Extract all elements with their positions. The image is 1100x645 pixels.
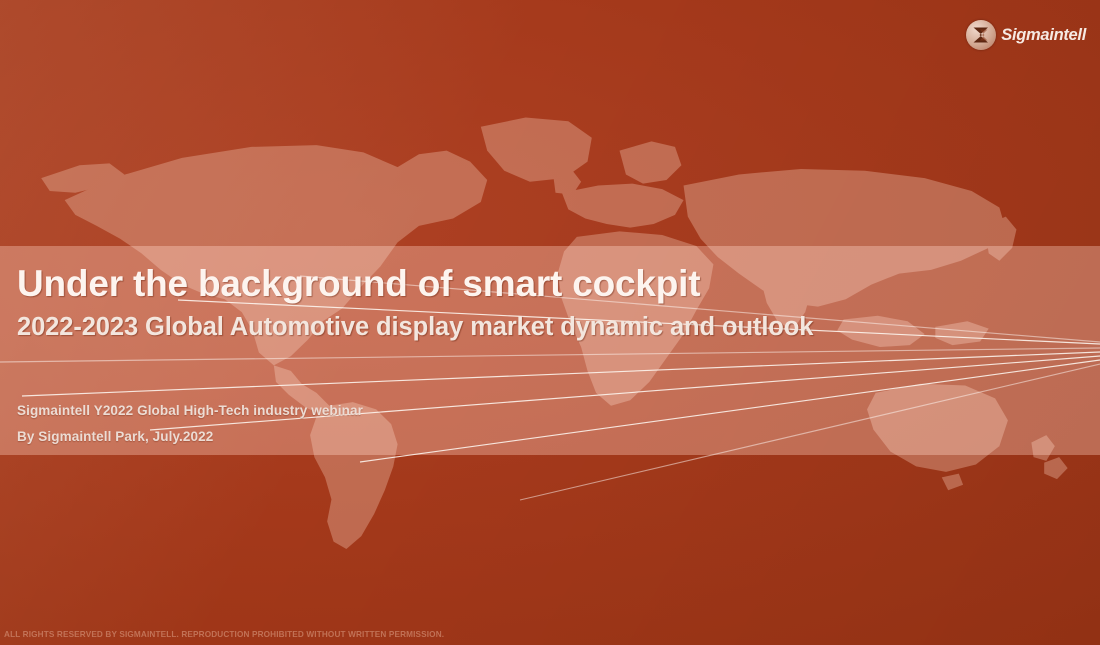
brand-logo: Sigmaintell <box>966 20 1086 50</box>
title-group: Under the background of smart cockpit 20… <box>17 262 1037 342</box>
presentation-slide: Under the background of smart cockpit 20… <box>0 0 1100 645</box>
brand-wordmark: Sigmaintell <box>1001 26 1086 45</box>
byline-group: Sigmaintell Y2022 Global High-Tech indus… <box>17 398 717 449</box>
page-title: Under the background of smart cockpit <box>17 262 1037 306</box>
byline-event: Sigmaintell Y2022 Global High-Tech indus… <box>17 398 717 424</box>
byline-author: By Sigmaintell Park, July.2022 <box>17 424 717 450</box>
sigmaintell-sigma-arrow-icon <box>966 20 996 50</box>
copyright-footer: ALL RIGHTS RESERVED BY SIGMAINTELL. REPR… <box>4 630 444 639</box>
page-subtitle: 2022-2023 Global Automotive display mark… <box>17 312 1037 343</box>
